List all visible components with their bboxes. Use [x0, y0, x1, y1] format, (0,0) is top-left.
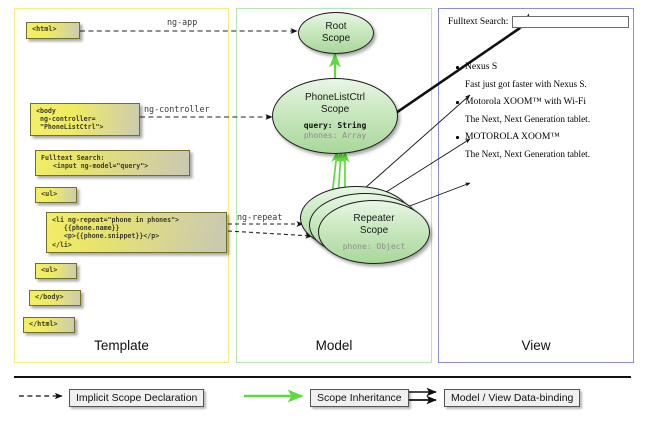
scope-phonelistctrl: PhoneListCtrl Scope query: String phones… — [272, 78, 398, 154]
scope-phonelistctrl-title-1: PhoneListCtrl — [305, 92, 365, 103]
codebox-html-close: </html> — [23, 317, 75, 333]
codebox-li-ng-repeat: <li ng-repeat="phone in phones"> {{phone… — [46, 212, 227, 253]
view-phone-list: Nexus S Fast just got faster with Nexus … — [448, 61, 626, 159]
phone-snippet: Fast just got faster with Nexus S. — [448, 79, 626, 89]
phone-snippet: The Next, Next Generation tablet. — [448, 149, 626, 159]
codebox-fulltext-search: Fulltext Search: <input ng-model="query"… — [35, 150, 190, 176]
scope-root-title-2: Scope — [322, 33, 350, 44]
legend-item-databinding: Model / View Data-binding — [444, 389, 580, 407]
legend-label-databinding: Model / View Data-binding — [444, 389, 580, 407]
scope-repeater-title-2: Scope — [360, 225, 388, 236]
legend-label-inheritance: Scope Inheritance — [310, 389, 409, 407]
codebox-html-open: <html> — [26, 22, 80, 39]
panel-model: Model — [236, 8, 432, 363]
phone-name: MOTOROLA XOOM™ — [448, 131, 626, 142]
view-search-label: Fulltext Search: — [448, 17, 508, 27]
diagram-canvas: Template Model View — [0, 0, 645, 425]
edge-label-ng-controller: ng-controller — [144, 104, 210, 114]
view-search-input[interactable] — [512, 16, 629, 28]
scope-repeater: Repeater Scope phone: Object — [318, 200, 430, 264]
legend-label-implicit: Implicit Scope Declaration — [69, 389, 204, 407]
codebox-ul-open: <ul> — [35, 187, 77, 203]
codebox-ul-close: <ul> — [35, 263, 77, 279]
legend: Implicit Scope Declaration Scope Inherit… — [14, 376, 631, 414]
panel-label-view: View — [439, 338, 633, 353]
edge-label-ng-repeat: ng-repeat — [237, 212, 282, 222]
list-item: MOTOROLA XOOM™ The Next, Next Generation… — [448, 131, 626, 159]
phone-snippet: The Next, Next Generation tablet. — [448, 114, 626, 124]
legend-item-inheritance: Scope Inheritance — [310, 389, 409, 407]
panel-template: Template — [14, 8, 229, 363]
codebox-body-open: <body ng-controller= "PhoneListCtrl"> — [30, 103, 140, 136]
panel-label-template: Template — [15, 338, 228, 353]
scope-root: Root Scope — [298, 12, 374, 54]
phone-name: Nexus S — [448, 61, 626, 72]
edge-label-ng-app: ng-app — [167, 17, 197, 27]
view-content: Fulltext Search: Nexus S Fast just got f… — [448, 16, 626, 166]
scope-prop-query: query: String — [304, 121, 367, 131]
list-item: Motorola XOOM™ with Wi-Fi The Next, Next… — [448, 96, 626, 124]
codebox-body-close: </body> — [29, 290, 81, 306]
view-search-row: Fulltext Search: — [448, 16, 626, 28]
scope-prop-phones: phones: Array — [304, 131, 367, 141]
scope-root-title-1: Root — [325, 21, 346, 32]
phone-name: Motorola XOOM™ with Wi-Fi — [448, 96, 626, 107]
panel-label-model: Model — [237, 338, 431, 353]
legend-item-implicit: Implicit Scope Declaration — [69, 389, 204, 407]
scope-phonelistctrl-title-2: Scope — [321, 104, 349, 115]
scope-repeater-title-1: Repeater — [353, 213, 394, 224]
list-item: Nexus S Fast just got faster with Nexus … — [448, 61, 626, 89]
scope-prop-phone: phone: Object — [343, 242, 406, 252]
